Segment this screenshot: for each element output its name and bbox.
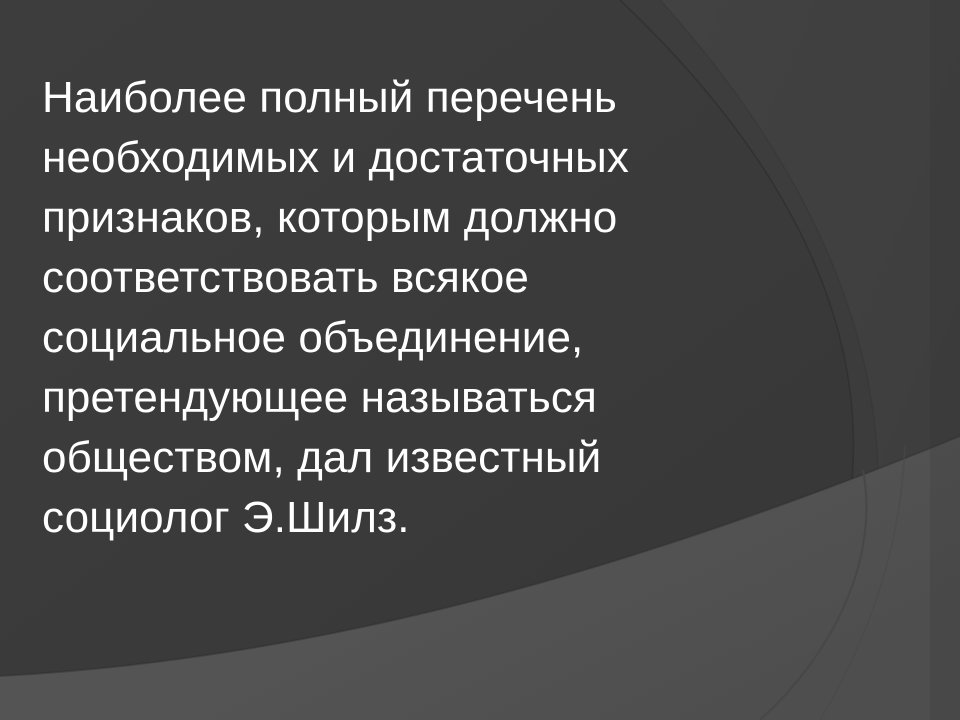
slide-body-text: Наиболее полный перечень необходимых и д…	[42, 68, 812, 548]
body-line: социальное объединение,	[42, 308, 812, 368]
presentation-slide: Наиболее полный перечень необходимых и д…	[0, 0, 960, 720]
body-line: социолог Э.Шилз.	[42, 488, 812, 548]
body-line: необходимых и достаточных	[42, 128, 812, 188]
body-line: признаков, которым должно	[42, 188, 812, 248]
body-line: обществом, дал известный	[42, 428, 812, 488]
background-right-vignette	[930, 0, 960, 720]
body-line: Наиболее полный перечень	[42, 68, 812, 128]
body-line: соответствовать всякое	[42, 248, 812, 308]
background-arc-outer-over-band	[820, 445, 905, 720]
body-line: претендующее называться	[42, 368, 812, 428]
